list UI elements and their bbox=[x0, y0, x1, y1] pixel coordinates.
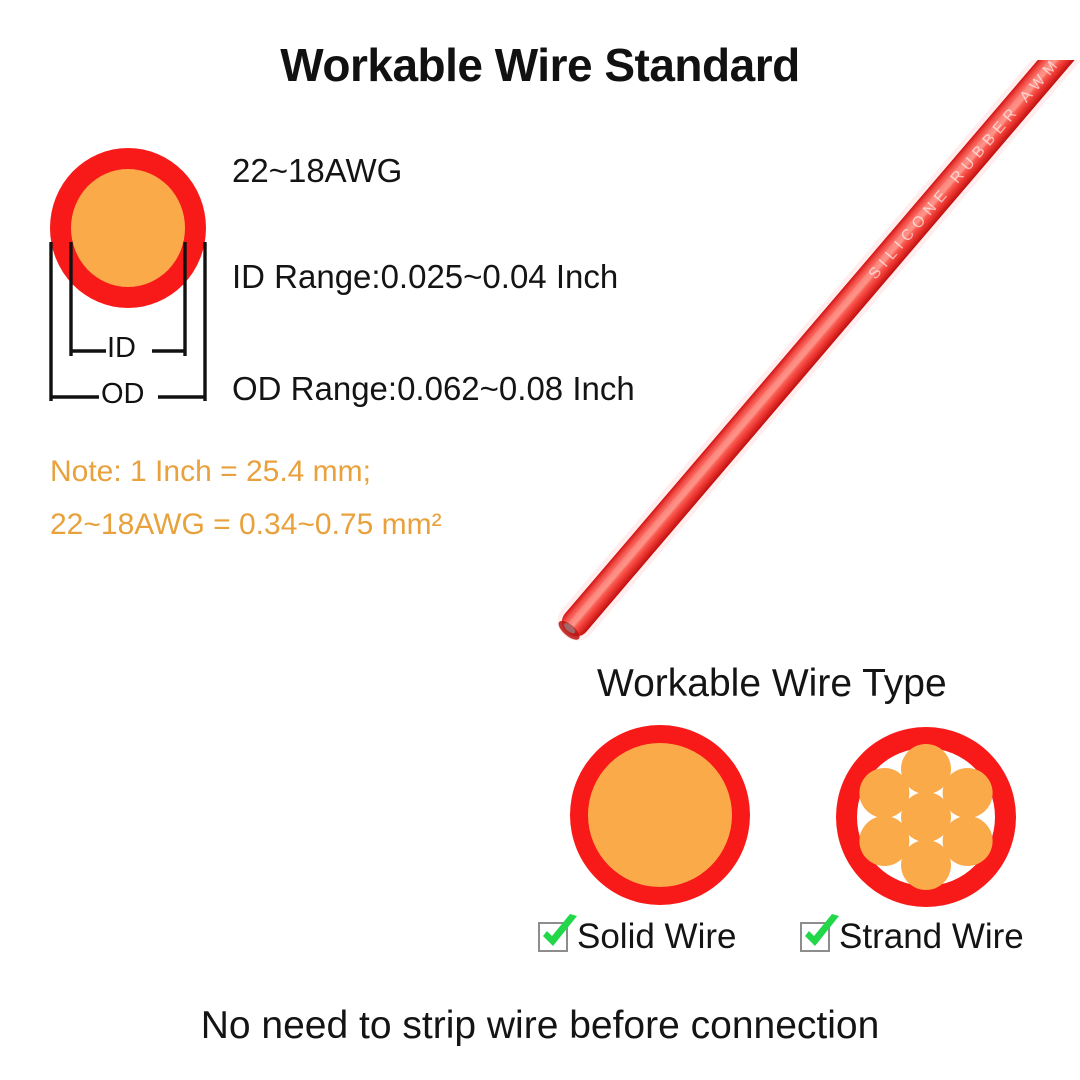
solid-wire-cross-section bbox=[570, 725, 750, 905]
solid-wire-conductor bbox=[588, 743, 732, 887]
solid-wire-label: Solid Wire bbox=[577, 917, 736, 957]
od-dimension-label: OD bbox=[101, 378, 145, 411]
solid-wire-checkbox[interactable] bbox=[538, 922, 568, 952]
wire-type-heading: Workable Wire Type bbox=[597, 662, 947, 706]
page-title: Workable Wire Standard bbox=[0, 38, 1080, 92]
id-dimension-label: ID bbox=[107, 332, 136, 365]
od-range-text: OD Range:0.062~0.08 Inch bbox=[232, 370, 635, 408]
dimension-lines bbox=[44, 146, 244, 416]
strand-wire-cross-section bbox=[836, 727, 1016, 907]
strand-conductors bbox=[836, 727, 1016, 907]
note-line-2: 22~18AWG = 0.34~0.75 mm² bbox=[50, 508, 442, 542]
strand-wire-label: Strand Wire bbox=[839, 917, 1024, 957]
wire-standard-infographic: Workable Wire Standard bbox=[0, 0, 1080, 1080]
wire-cross-section-diagram: ID OD bbox=[44, 146, 244, 416]
checkmark-icon bbox=[538, 913, 582, 957]
awg-range-text: 22~18AWG bbox=[232, 152, 402, 190]
wire-printed-text: SILICONE RUBBER AWM 1 A/B 150°C 3KV FT1 … bbox=[866, 60, 1080, 283]
bottom-caption: No need to strip wire before connection bbox=[0, 1004, 1080, 1048]
checkmark-icon bbox=[800, 913, 844, 957]
strand-wire-option[interactable]: Strand Wire bbox=[800, 917, 1024, 957]
note-line-1: Note: 1 Inch = 25.4 mm; bbox=[50, 455, 371, 489]
solid-wire-option[interactable]: Solid Wire bbox=[538, 917, 736, 957]
strand-wire-checkbox[interactable] bbox=[800, 922, 830, 952]
id-range-text: ID Range:0.025~0.04 Inch bbox=[232, 258, 618, 296]
